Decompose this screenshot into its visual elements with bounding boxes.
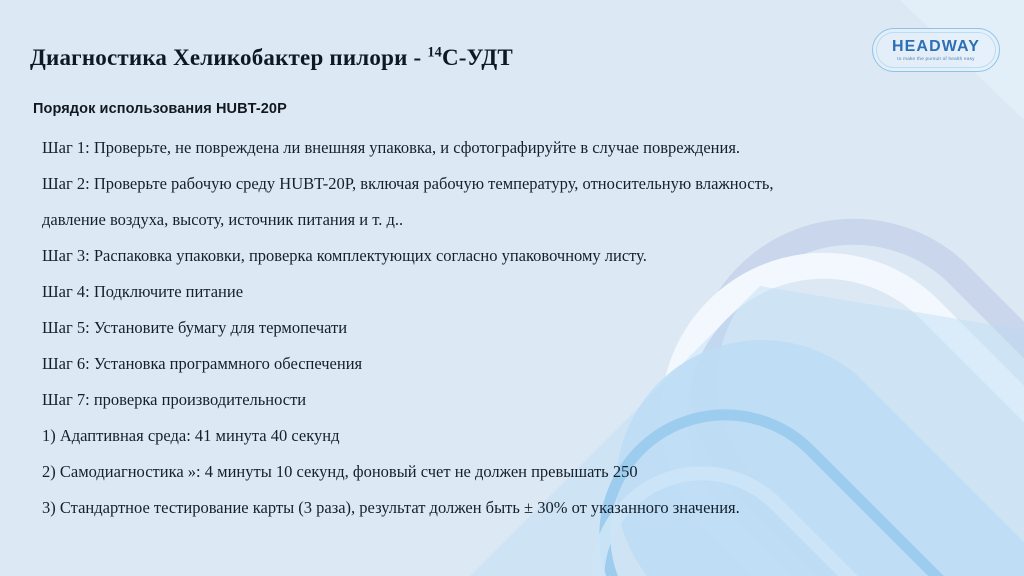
step-line: Шаг 3: Распаковка упаковки, проверка ком… bbox=[42, 248, 972, 284]
page-title-superscript: 14 bbox=[427, 44, 442, 60]
logo-tagline: to make the pursuit of health easy bbox=[897, 57, 974, 62]
step-line: Шаг 5: Установите бумагу для термопечати bbox=[42, 320, 972, 356]
page-title-suffix: С-УДТ bbox=[442, 45, 513, 70]
headway-logo: HEADWAY to make the pursuit of health ea… bbox=[872, 28, 1000, 72]
result-line: 3) Стандартное тестирование карты (3 раз… bbox=[42, 500, 972, 536]
step-line: Шаг 4: Подключите питание bbox=[42, 284, 972, 320]
slide-canvas: HEADWAY to make the pursuit of health ea… bbox=[0, 0, 1024, 576]
step-line: Шаг 2: Проверьте рабочую среду HUBT-20P,… bbox=[42, 176, 972, 212]
step-line: Шаг 1: Проверьте, не повреждена ли внешн… bbox=[42, 140, 972, 176]
step-line: Шаг 6: Установка программного обеспечени… bbox=[42, 356, 972, 392]
result-line: 2) Самодиагностика »: 4 минуты 10 секунд… bbox=[42, 464, 972, 500]
steps-list: Шаг 1: Проверьте, не повреждена ли внешн… bbox=[42, 140, 972, 536]
step-line-continuation: давление воздуха, высоту, источник питан… bbox=[42, 212, 972, 248]
logo-wordmark: HEADWAY bbox=[892, 39, 980, 55]
section-heading: Порядок использования HUBT-20P bbox=[33, 101, 287, 117]
page-title-main: Диагностика Хеликобактер пилори - bbox=[30, 45, 427, 70]
page-title: Диагностика Хеликобактер пилори - 14С-УД… bbox=[30, 45, 513, 71]
result-line: 1) Адаптивная среда: 41 минута 40 секунд bbox=[42, 428, 972, 464]
step-line: Шаг 7: проверка производительности bbox=[42, 392, 972, 428]
